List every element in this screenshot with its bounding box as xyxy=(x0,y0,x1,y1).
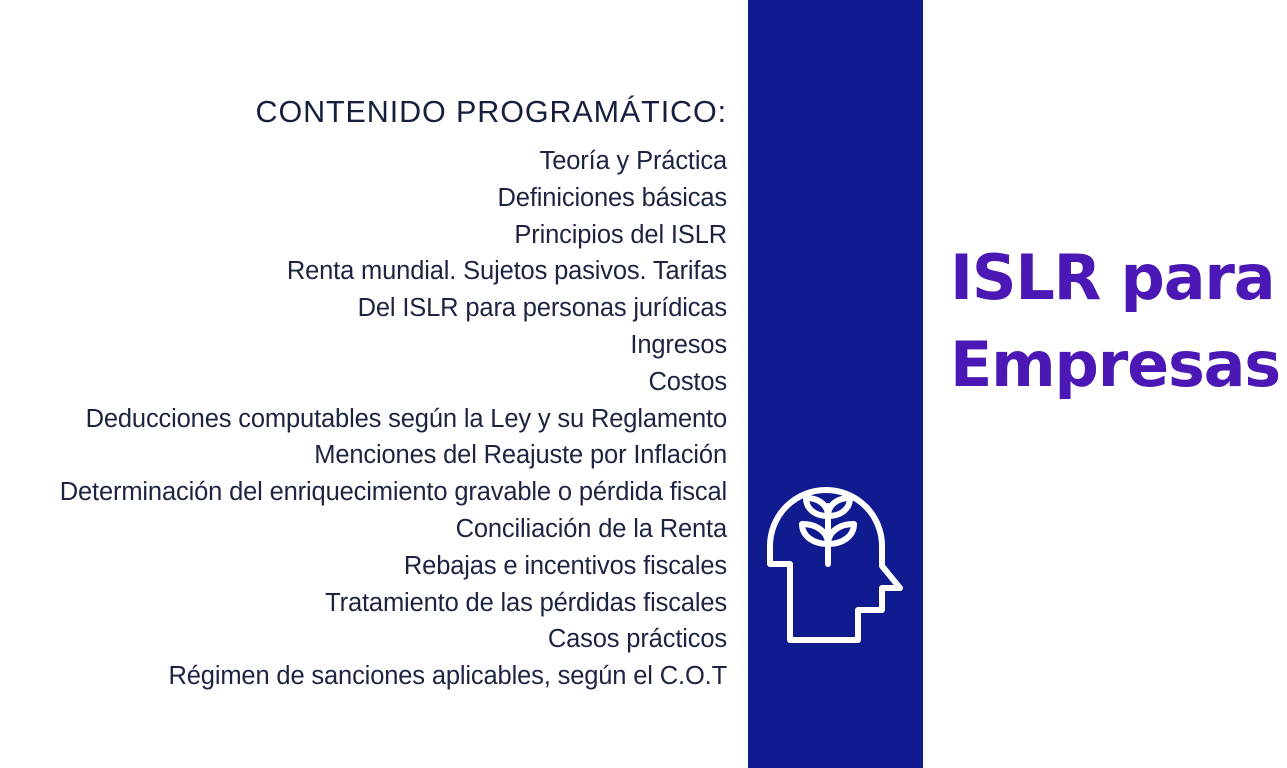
list-item: Conciliación de la Renta xyxy=(2,511,727,548)
list-item: Costos xyxy=(2,364,727,401)
blue-vertical-band xyxy=(748,0,923,768)
list-item: Renta mundial. Sujetos pasivos. Tarifas xyxy=(2,253,727,290)
list-item: Deducciones computables según la Ley y s… xyxy=(2,401,727,438)
list-item: Tratamiento de las pérdidas fiscales xyxy=(2,585,727,622)
list-item: Ingresos xyxy=(2,327,727,364)
list-item: Régimen de sanciones aplicables, según e… xyxy=(2,658,727,695)
list-item: Teoría y Práctica xyxy=(2,143,727,180)
list-item: Del ISLR para personas jurídicas xyxy=(2,290,727,327)
list-item: Menciones del Reajuste por Inflación xyxy=(2,437,727,474)
content-column: CONTENIDO PROGRAMÁTICO: Teoría y Práctic… xyxy=(0,0,730,768)
head-with-plant-icon xyxy=(766,468,916,646)
list-item: Casos prácticos xyxy=(2,621,727,658)
list-item: Rebajas e incentivos fiscales xyxy=(2,548,727,585)
slide-canvas: CONTENIDO PROGRAMÁTICO: Teoría y Práctic… xyxy=(0,0,1287,768)
page-title: CONTENIDO PROGRAMÁTICO: xyxy=(256,96,727,130)
course-title: ISLR para Empresas xyxy=(950,234,1287,408)
course-title-line-2: Empresas xyxy=(950,321,1287,408)
list-item: Principios del ISLR xyxy=(2,217,727,254)
list-item: Definiciones básicas xyxy=(2,180,727,217)
course-title-line-1: ISLR para xyxy=(950,234,1287,321)
topic-list: Teoría y Práctica Definiciones básicas P… xyxy=(2,143,727,695)
list-item: Determinación del enriquecimiento gravab… xyxy=(2,474,727,511)
